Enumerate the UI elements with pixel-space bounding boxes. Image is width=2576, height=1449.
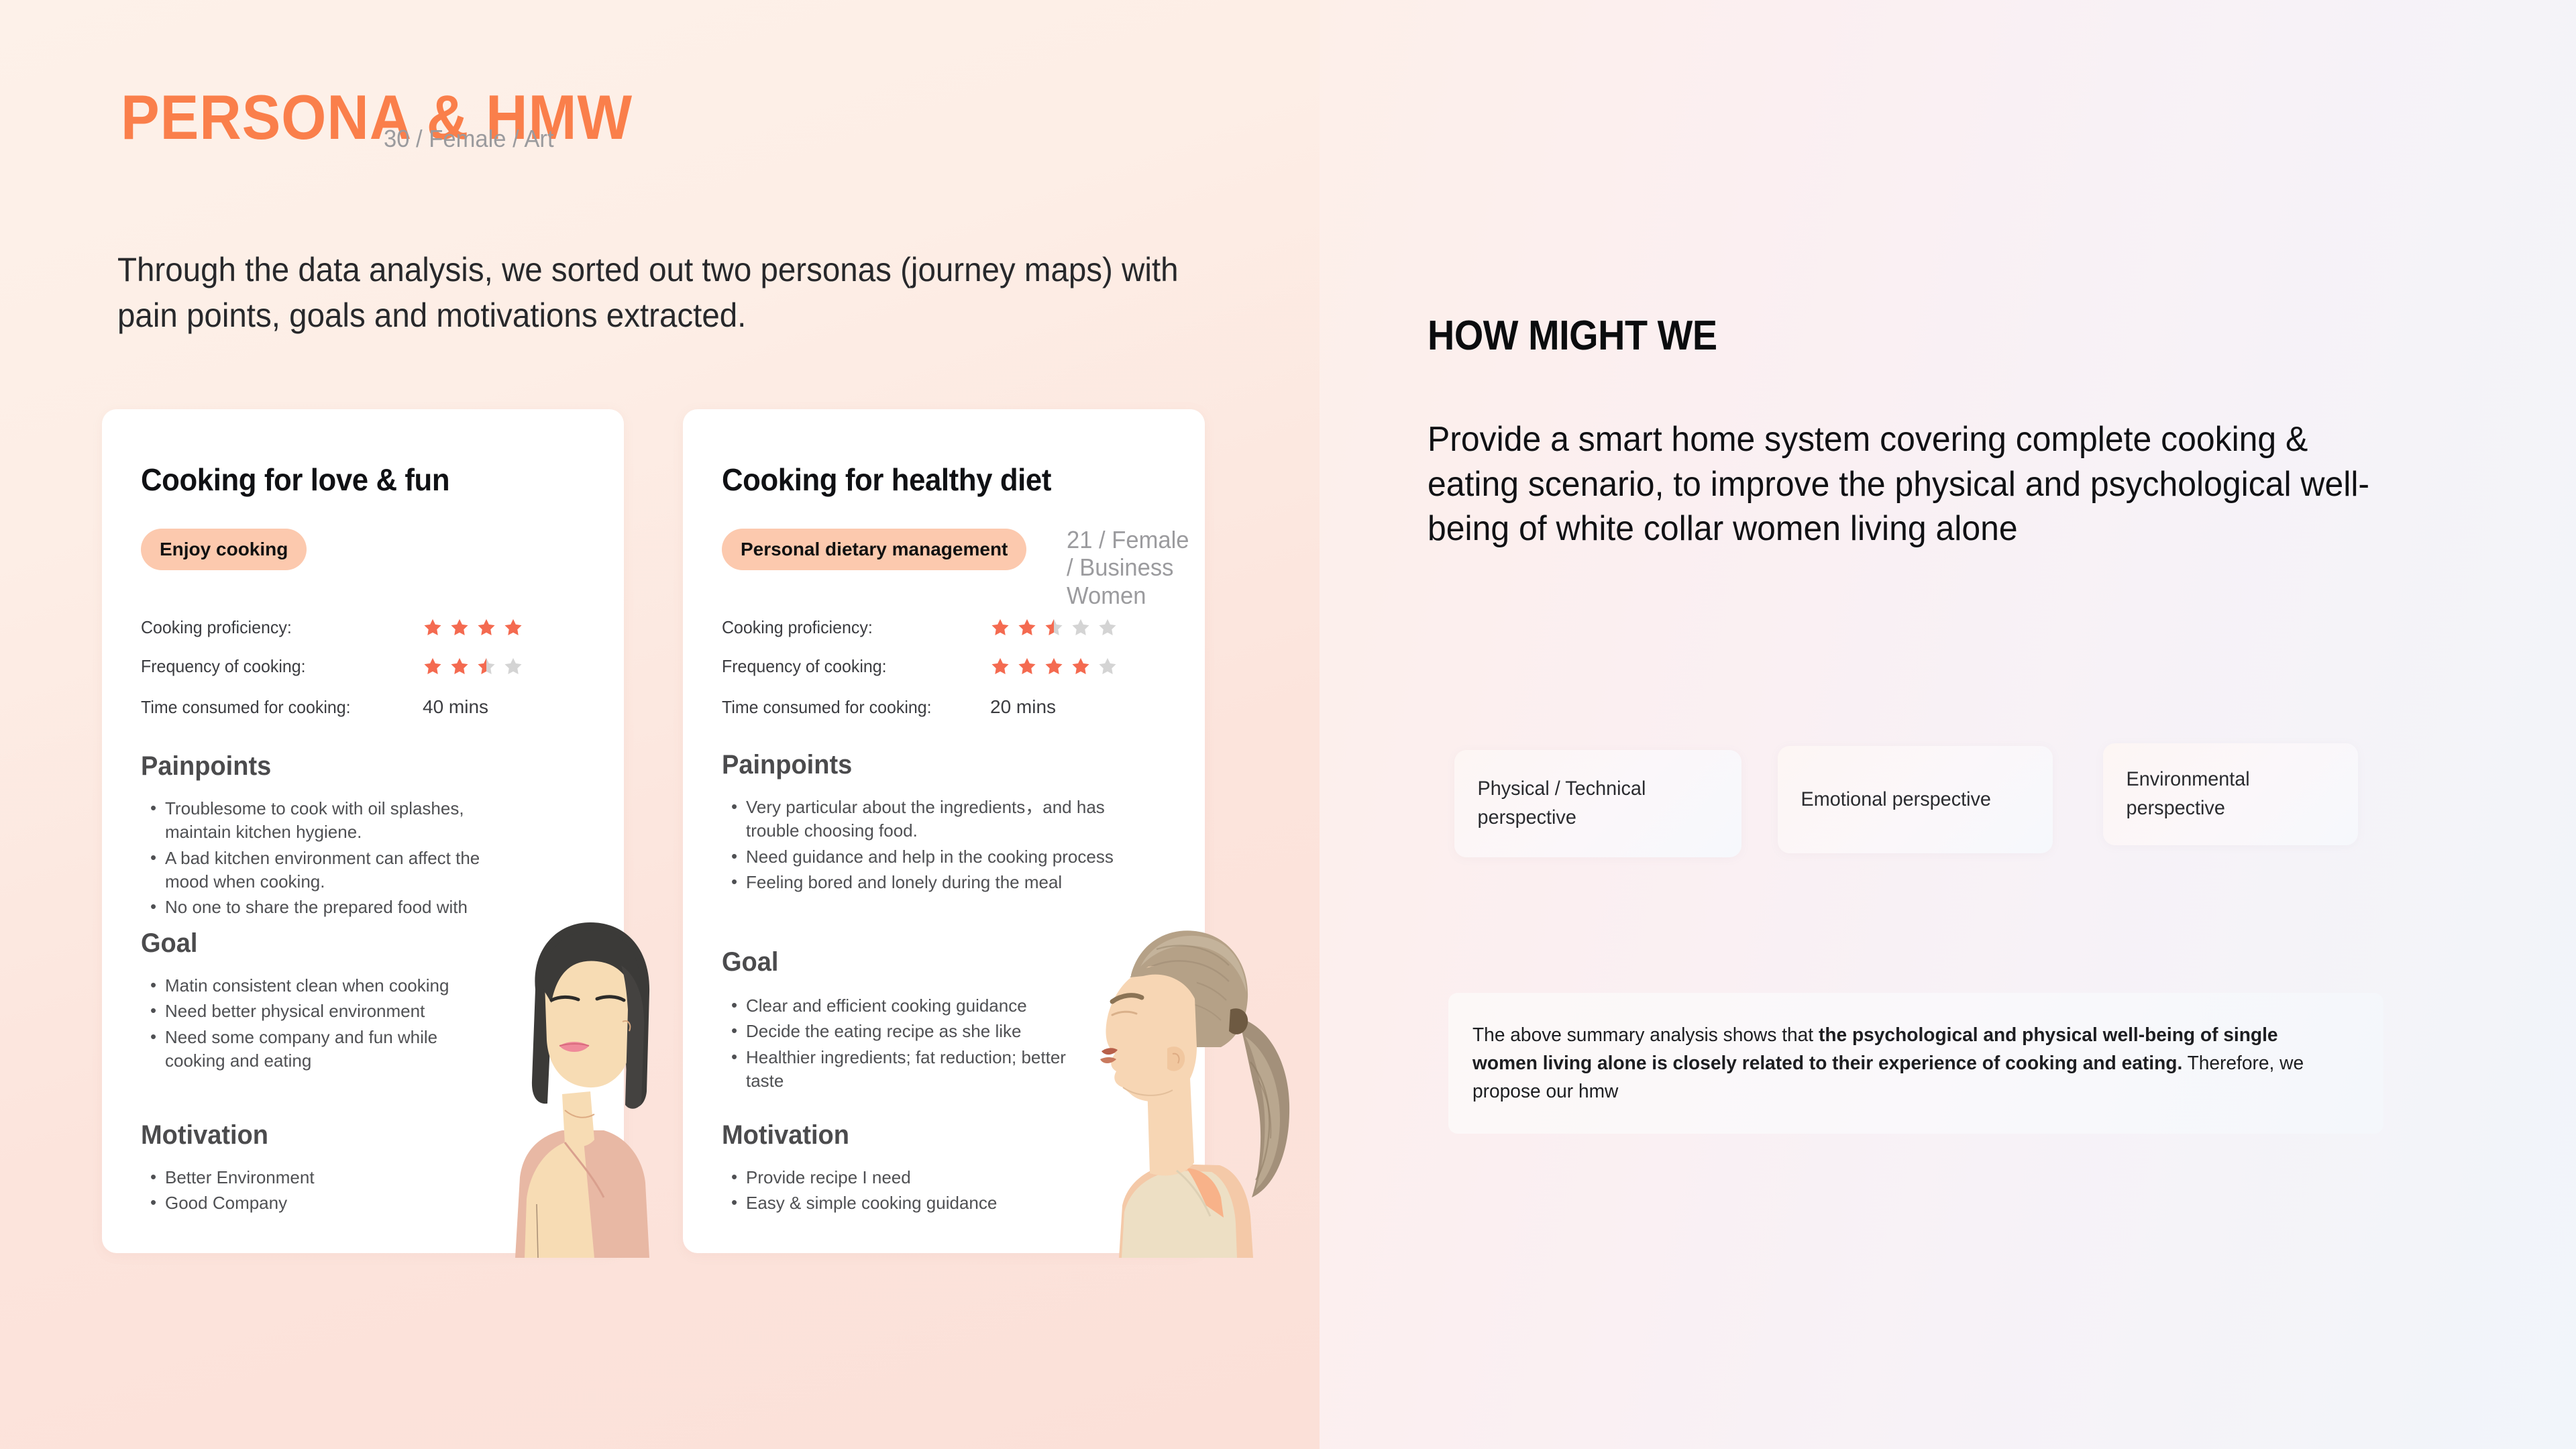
- list-item: Better Environment: [148, 1166, 470, 1189]
- list-item: Feeling bored and lonely during the meal: [729, 871, 1131, 894]
- section-heading-painpoints: Painpoints: [141, 751, 271, 782]
- star-icon: [990, 618, 1010, 637]
- section-heading-motivation: Motivation: [141, 1120, 268, 1150]
- metric-label: Frequency of cooking:: [141, 656, 411, 677]
- persona-card[interactable]: Cooking for healthy diet Personal dietar…: [683, 409, 1205, 1253]
- persona-name: Cooking for healthy diet: [722, 462, 1051, 498]
- persona-card[interactable]: Cooking for love & fun Enjoy cooking Coo…: [102, 409, 624, 1253]
- star-icon: [1017, 618, 1037, 637]
- bullet-list-painpoints: Very particular about the ingredients，an…: [729, 796, 1131, 896]
- section-heading-goal: Goal: [722, 947, 778, 977]
- list-item: A bad kitchen environment can affect the…: [148, 847, 496, 894]
- star-icon-half: [476, 657, 496, 676]
- left-panel: PERSONA & HMW Through the data analysis,…: [0, 0, 1320, 1449]
- metric-label: Cooking proficiency:: [722, 617, 979, 638]
- bullet-list-goal: Matin consistent clean when cooking Need…: [148, 974, 483, 1075]
- persona-name: Cooking for love & fun: [141, 462, 449, 498]
- perspective-label: Emotional perspective: [1778, 786, 2014, 814]
- star-icon: [449, 618, 470, 637]
- rating-stars-frequency-of-cooking: [423, 657, 523, 676]
- rating-stars-frequency-of-cooking: [990, 657, 1118, 676]
- star-icon: [503, 618, 523, 637]
- perspective-card[interactable]: Emotional perspective: [1778, 746, 2053, 853]
- hmw-statement: Provide a smart home system covering com…: [1428, 417, 2381, 551]
- bullet-list-motivation: Provide recipe I need Easy & simple cook…: [729, 1166, 1010, 1218]
- list-item: Troublesome to cook with oil splashes, m…: [148, 797, 496, 845]
- list-item: No one to share the prepared food with: [148, 896, 496, 919]
- star-icon-empty: [1071, 618, 1091, 637]
- hmw-heading: HOW MIGHT WE: [1428, 312, 1717, 360]
- star-icon-empty: [503, 657, 523, 676]
- star-icon-empty: [1097, 657, 1118, 676]
- star-icon: [423, 657, 443, 676]
- metric-value-time-consumed: 20 mins: [990, 696, 1056, 718]
- list-item: Matin consistent clean when cooking: [148, 974, 483, 998]
- right-panel: [1320, 0, 2576, 1449]
- star-icon: [990, 657, 1010, 676]
- star-icon: [1017, 657, 1037, 676]
- metric-label: Time consumed for cooking:: [722, 697, 979, 718]
- rating-stars-cooking-proficiency: [423, 618, 523, 637]
- metric-label: Cooking proficiency:: [141, 617, 411, 638]
- star-icon: [423, 618, 443, 637]
- list-item: Healthier ingredients; fat reduction; be…: [729, 1046, 1084, 1093]
- star-icon-half: [1044, 618, 1064, 637]
- section-heading-painpoints: Painpoints: [722, 750, 852, 780]
- list-item: Need better physical environment: [148, 1000, 483, 1023]
- persona-demographics: 30 / Female / Art: [384, 125, 667, 152]
- perspective-label: Physical / Technical perspective: [1454, 775, 1730, 832]
- metric-label: Frequency of cooking:: [722, 656, 979, 677]
- perspective-card[interactable]: Physical / Technical perspective: [1454, 750, 1741, 857]
- list-item: Need some company and fun while cooking …: [148, 1026, 483, 1073]
- summary-box: The above summary analysis shows that th…: [1448, 993, 2383, 1134]
- bullet-list-motivation: Better Environment Good Company: [148, 1166, 470, 1218]
- section-heading-motivation: Motivation: [722, 1120, 849, 1150]
- list-item: Clear and efficient cooking guidance: [729, 994, 1084, 1018]
- persona-demographics: 21 / Female / Business Women: [1067, 526, 1202, 609]
- intro-paragraph: Through the data analysis, we sorted out…: [117, 247, 1239, 338]
- section-heading-goal: Goal: [141, 928, 197, 959]
- star-icon: [476, 618, 496, 637]
- list-item: Need guidance and help in the cooking pr…: [729, 845, 1131, 869]
- summary-lead: The above summary analysis shows that: [1472, 1024, 1819, 1046]
- metric-label: Time consumed for cooking:: [141, 697, 411, 718]
- summary-text: The above summary analysis shows that th…: [1472, 1021, 2331, 1106]
- persona-card-body: Cooking for love & fun Enjoy cooking Coo…: [102, 409, 624, 1253]
- list-item: Decide the eating recipe as she like: [729, 1020, 1084, 1043]
- metric-value-time-consumed: 40 mins: [423, 696, 488, 718]
- rating-stars-cooking-proficiency: [990, 618, 1118, 637]
- perspective-card[interactable]: Environmental perspective: [2103, 743, 2358, 845]
- list-item: Easy & simple cooking guidance: [729, 1191, 1010, 1215]
- bullet-list-painpoints: Troublesome to cook with oil splashes, m…: [148, 797, 496, 922]
- persona-tag-badge: Personal dietary management: [722, 529, 1026, 570]
- list-item: Good Company: [148, 1191, 470, 1215]
- persona-card-body: Cooking for healthy diet Personal dietar…: [683, 409, 1205, 1253]
- star-icon: [1044, 657, 1064, 676]
- star-icon-empty: [1097, 618, 1118, 637]
- star-icon: [449, 657, 470, 676]
- list-item: Provide recipe I need: [729, 1166, 1010, 1189]
- bullet-list-goal: Clear and efficient cooking guidance Dec…: [729, 994, 1084, 1095]
- list-item: Very particular about the ingredients，an…: [729, 796, 1131, 843]
- perspective-label: Environmental perspective: [2103, 765, 2348, 822]
- star-icon: [1071, 657, 1091, 676]
- persona-tag-badge: Enjoy cooking: [141, 529, 307, 570]
